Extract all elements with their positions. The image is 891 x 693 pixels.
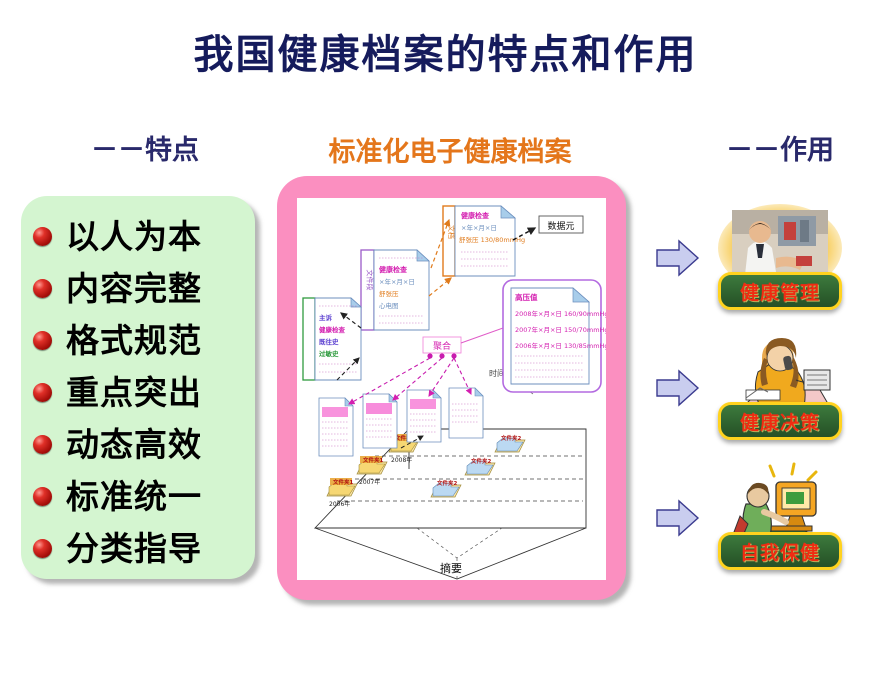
- section-heading-uses: －－作用: [690, 128, 870, 167]
- folder-card-line: 既往史: [319, 337, 339, 346]
- diagram-frame: 摘要 文件夹1 2006年 文件夹1 2007年: [277, 176, 626, 600]
- feature-label: 动态高效: [66, 428, 202, 461]
- folder-label: 文件夹2: [437, 479, 458, 487]
- feature-label: 分类指导: [66, 532, 202, 565]
- bullet-icon: [33, 435, 52, 454]
- list-item: 分类指导: [33, 522, 255, 574]
- series-card-row: 2008年×月×日 160/90mmHg: [515, 309, 606, 318]
- section-card-field: 舒张压: [379, 289, 399, 298]
- outcome-label: 健康管理: [740, 278, 820, 305]
- series-card-row: 2006年×月×日 130/85mmHg: [515, 341, 606, 350]
- record-card-date: ×年×月×日: [461, 223, 497, 232]
- bullet-icon: [33, 279, 52, 298]
- list-item: 动态高效: [33, 418, 255, 470]
- right-arrow-icon: [655, 498, 701, 538]
- section-card-field: 心电图: [379, 301, 399, 310]
- list-item: 以人为本: [33, 210, 255, 262]
- bullet-icon: [33, 383, 52, 402]
- outcome-badge[interactable]: 健康管理: [718, 272, 842, 310]
- folder-card-line: 主诉: [319, 313, 333, 322]
- folder-year: 2007年: [359, 478, 380, 486]
- list-item: 内容完整: [33, 262, 255, 314]
- series-card-title: 高压值: [515, 292, 538, 302]
- folder-label: 文件夹2: [501, 434, 522, 442]
- outcome-item: 健康管理: [700, 198, 860, 324]
- aggregation-label: 聚合: [433, 340, 451, 352]
- diagram-image: 摘要 文件夹1 2006年 文件夹1 2007年: [297, 198, 606, 580]
- section-heading-ehr: 标准化电子健康档案: [285, 130, 615, 169]
- data-element-label: 数据元: [547, 220, 574, 232]
- list-item: 标准统一: [33, 470, 255, 522]
- series-card-row: 2007年×月×日 150/70mmHg: [515, 325, 606, 334]
- list-item: 重点突出: [33, 366, 255, 418]
- page-title: 我国健康档案的特点和作用: [0, 22, 891, 80]
- outcome-badge[interactable]: 自我保健: [718, 532, 842, 570]
- outcome-item: 健康决策: [700, 328, 860, 454]
- folder-card-line: 过敏史: [319, 349, 339, 358]
- section-card-title: 健康检查: [379, 265, 408, 274]
- feature-label: 格式规范: [66, 324, 202, 357]
- outcome-label: 健康决策: [740, 408, 820, 435]
- feature-label: 重点突出: [66, 376, 202, 409]
- bullet-icon: [33, 487, 52, 506]
- folder-year: 2006年: [329, 500, 350, 508]
- feature-label: 内容完整: [66, 272, 202, 305]
- list-item: 格式规范: [33, 314, 255, 366]
- right-arrow-icon: [655, 238, 701, 278]
- record-card-title: 健康检查: [461, 211, 490, 220]
- diagram-caption: 摘要: [440, 561, 462, 575]
- feature-label: 以人为本: [66, 220, 202, 253]
- section-heading-features: －－特点: [30, 128, 260, 167]
- features-panel: 以人为本 内容完整 格式规范 重点突出 动态高效 标准统一 分类指导: [21, 196, 255, 579]
- feature-label: 标准统一: [66, 480, 202, 513]
- outcome-label: 自我保健: [740, 538, 820, 565]
- bullet-icon: [33, 227, 52, 246]
- file-section-axis-label: 文件段: [366, 270, 375, 291]
- folder-label: 文件夹1: [333, 478, 354, 486]
- folder-year: 2008年: [391, 456, 412, 464]
- bullet-icon: [33, 331, 52, 350]
- folder-label: 文件夹2: [471, 457, 492, 465]
- section-card-date: ×年×月×日: [379, 277, 415, 286]
- right-arrow-icon: [655, 368, 701, 408]
- folder-label: 文件夹1: [363, 456, 384, 464]
- folder-card-line: 健康检查: [319, 325, 346, 334]
- outcome-badge[interactable]: 健康决策: [718, 402, 842, 440]
- bullet-icon: [33, 539, 52, 558]
- outcome-item: 自我保健: [700, 458, 860, 584]
